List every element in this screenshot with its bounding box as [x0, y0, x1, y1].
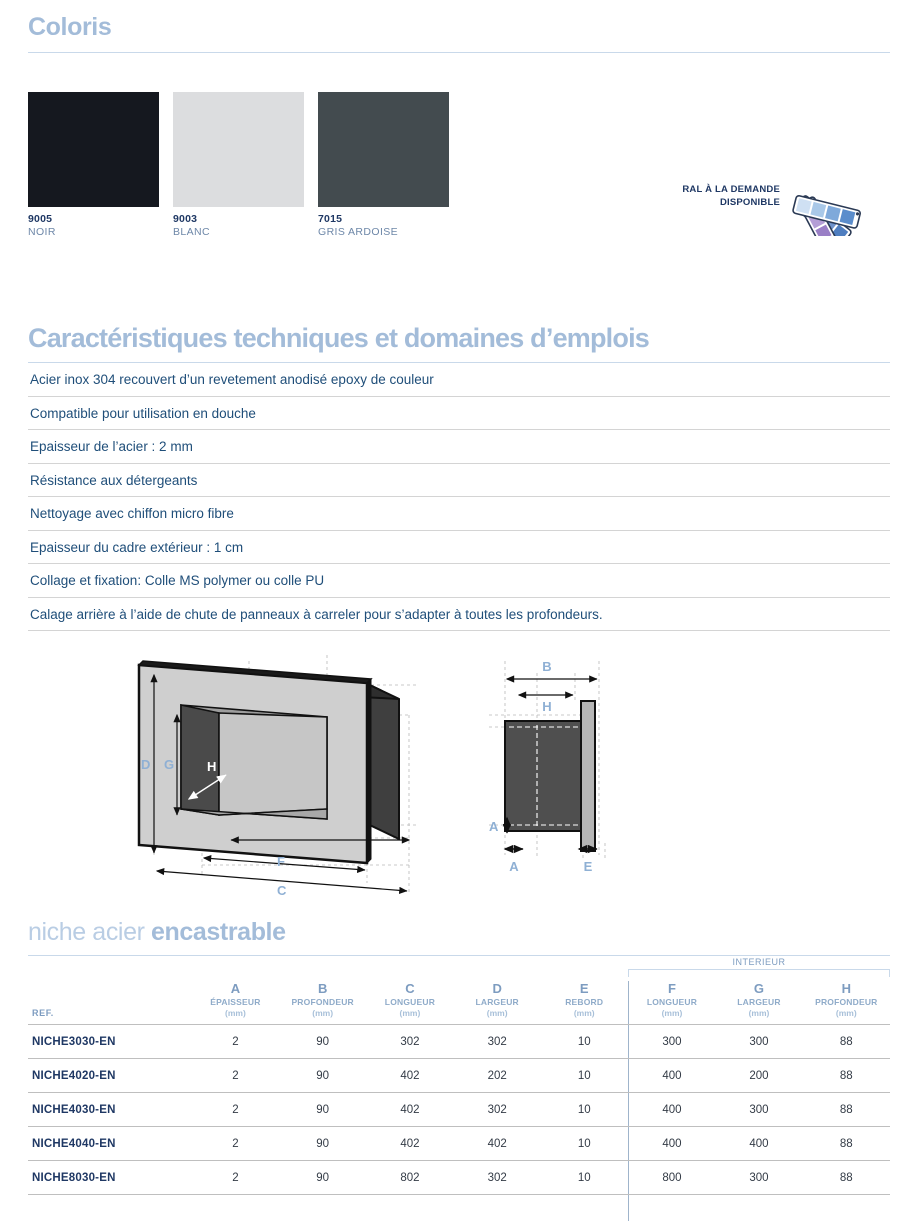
header-letter: G: [715, 981, 802, 997]
header-unit: (mm): [454, 1008, 541, 1019]
header-col-G: G LARGEUR (mm): [715, 981, 802, 1025]
product-dimension-table: INTERIEUR REF. A ÉPAISSEUR (mm) B PROFON…: [28, 957, 890, 1221]
perspective-view: D G H F C: [139, 655, 419, 898]
ral-on-demand-badge: RAL À LA DEMANDE DISPONIBLE: [682, 154, 874, 241]
header-letter: B: [279, 981, 366, 997]
header-name: REBORD: [541, 997, 628, 1008]
cell-ref: NICHE4040-EN: [28, 1127, 192, 1161]
cell-E: 10: [541, 1059, 628, 1093]
swatch-code: 9005: [28, 213, 166, 225]
cell-E: 10: [541, 1093, 628, 1127]
cell-ref: NICHE8030-EN: [28, 1161, 192, 1195]
header-col-E: E REBORD (mm): [541, 981, 628, 1025]
dim-label-E: E: [584, 859, 593, 874]
cell-B: 90: [279, 1161, 366, 1195]
table-row[interactable]: NICHE4030-EN 2 90 402 302 10 400 300 88: [28, 1093, 890, 1127]
dim-label-H-side: H: [542, 699, 551, 714]
ral-badge-line1: RAL À LA DEMANDE: [682, 184, 780, 197]
color-swatch-9005[interactable]: 9005 NOIR: [28, 92, 166, 238]
cell-C: 802: [366, 1161, 453, 1195]
product-table-section: niche acier encastrable INTERIEUR REF. A…: [28, 919, 890, 1221]
header-name: LARGEUR: [715, 997, 802, 1008]
color-fan-icon: [786, 154, 874, 241]
cell-G: 400: [715, 1127, 802, 1161]
cell-F: 300: [628, 1025, 715, 1059]
cell-C: 402: [366, 1059, 453, 1093]
swatch-code: 9003: [173, 213, 311, 225]
cell-G: 300: [715, 1025, 802, 1059]
column-header-row: REF. A ÉPAISSEUR (mm) B PROFONDEUR (mm) …: [28, 981, 890, 1025]
cell-A: 2: [192, 1059, 279, 1093]
spec-row: Epaisseur de l’acier : 2 mm: [28, 430, 890, 464]
header-unit: (mm): [192, 1008, 279, 1019]
header-unit: (mm): [629, 1008, 716, 1019]
swatch-color-box: [318, 92, 449, 207]
cell-E: 10: [541, 1127, 628, 1161]
swatch-name: BLANC: [173, 226, 311, 238]
coloris-heading: Coloris: [28, 14, 890, 42]
cell-H: 88: [803, 1093, 890, 1127]
cell-E: 10: [541, 1161, 628, 1195]
spec-row: Epaisseur du cadre extérieur : 1 cm: [28, 531, 890, 565]
header-name: LARGEUR: [454, 997, 541, 1008]
table-row[interactable]: NICHE4040-EN 2 90 402 402 10 400 400 88: [28, 1127, 890, 1161]
dim-label-H: H: [207, 759, 216, 774]
table-tail-row: [28, 1195, 890, 1221]
header-col-A: A ÉPAISSEUR (mm): [192, 981, 279, 1025]
cell-E: 10: [541, 1025, 628, 1059]
coloris-section: Coloris 9005 NOIR 9003 BLANC 7015 GRIS A…: [28, 0, 890, 238]
header-unit: (mm): [715, 1008, 802, 1019]
cell-ref: NICHE4030-EN: [28, 1093, 192, 1127]
ral-badge-line2: DISPONIBLE: [682, 197, 780, 210]
header-unit: (mm): [366, 1008, 453, 1019]
dim-label-F: F: [277, 854, 285, 869]
cell-H: 88: [803, 1025, 890, 1059]
table-title-light: niche acier: [28, 918, 151, 946]
cell-C: 402: [366, 1127, 453, 1161]
cell-F: 400: [628, 1059, 715, 1093]
table-row[interactable]: NICHE4020-EN 2 90 402 202 10 400 200 88: [28, 1059, 890, 1093]
spec-row: Résistance aux détergeants: [28, 464, 890, 498]
cell-H: 88: [803, 1127, 890, 1161]
header-unit: (mm): [541, 1008, 628, 1019]
cell-A: 2: [192, 1025, 279, 1059]
color-swatch-9003[interactable]: 9003 BLANC: [173, 92, 311, 238]
header-name: LONGUEUR: [366, 997, 453, 1008]
cell-D: 202: [454, 1059, 541, 1093]
header-col-F: F LONGUEUR (mm): [628, 981, 715, 1025]
datasheet-page: Coloris 9005 NOIR 9003 BLANC 7015 GRIS A…: [0, 0, 918, 1216]
spec-row: Compatible pour utilisation en douche: [28, 397, 890, 431]
spec-row: Acier inox 304 recouvert d’un revetement…: [28, 363, 890, 397]
spec-row: Calage arrière à l’aide de chute de pann…: [28, 598, 890, 632]
header-unit: (mm): [279, 1008, 366, 1019]
cell-G: 200: [715, 1059, 802, 1093]
header-col-B: B PROFONDEUR (mm): [279, 981, 366, 1025]
coloris-divider: [28, 52, 890, 53]
cell-D: 402: [454, 1127, 541, 1161]
dim-label-G: G: [164, 757, 174, 772]
cell-D: 302: [454, 1025, 541, 1059]
header-letter: A: [192, 981, 279, 997]
cell-D: 302: [454, 1093, 541, 1127]
table-title-bold: encastrable: [151, 918, 286, 946]
niche-dimension-diagram: D G H F C: [109, 643, 809, 909]
dim-label-D: D: [141, 757, 150, 772]
cell-D: 302: [454, 1161, 541, 1195]
cell-B: 90: [279, 1127, 366, 1161]
dim-label-A-vertical: A: [489, 819, 499, 834]
table-divider: [28, 955, 890, 956]
specs-section: Caractéristiques techniques et domaines …: [28, 324, 890, 632]
cell-F: 800: [628, 1161, 715, 1195]
header-letter: C: [366, 981, 453, 997]
swatch-color-box: [28, 92, 159, 207]
cell-G: 300: [715, 1093, 802, 1127]
table-row[interactable]: NICHE3030-EN 2 90 302 302 10 300 300 88: [28, 1025, 890, 1059]
header-letter: H: [803, 981, 890, 997]
header-name: ÉPAISSEUR: [192, 997, 279, 1008]
group-header-row: INTERIEUR: [28, 957, 890, 981]
cell-A: 2: [192, 1127, 279, 1161]
header-letter: D: [454, 981, 541, 997]
table-title: niche acier encastrable: [28, 919, 890, 947]
cell-H: 88: [803, 1059, 890, 1093]
cell-C: 402: [366, 1093, 453, 1127]
swatch-name: NOIR: [28, 226, 166, 238]
side-view: B H A A E: [489, 659, 605, 874]
cell-F: 400: [628, 1127, 715, 1161]
cell-A: 2: [192, 1093, 279, 1127]
swatch-color-box: [173, 92, 304, 207]
header-name: PROFONDEUR: [279, 997, 366, 1008]
cell-B: 90: [279, 1059, 366, 1093]
cell-A: 2: [192, 1161, 279, 1195]
cell-ref: NICHE4020-EN: [28, 1059, 192, 1093]
header-letter: E: [541, 981, 628, 997]
header-name: PROFONDEUR: [803, 997, 890, 1008]
group-label-interieur: INTERIEUR: [628, 957, 890, 981]
spec-row: Collage et fixation: Colle MS polymer ou…: [28, 564, 890, 598]
header-ref: REF.: [28, 981, 192, 1025]
color-swatch-7015[interactable]: 7015 GRIS ARDOISE: [318, 92, 456, 238]
swatch-name: GRIS ARDOISE: [318, 226, 456, 238]
header-col-D: D LARGEUR (mm): [454, 981, 541, 1025]
spec-row: Nettoyage avec chiffon micro fibre: [28, 497, 890, 531]
dim-label-C: C: [277, 883, 287, 898]
cell-C: 302: [366, 1025, 453, 1059]
cell-B: 90: [279, 1025, 366, 1059]
header-col-C: C LONGUEUR (mm): [366, 981, 453, 1025]
dim-label-A-bottom: A: [509, 859, 519, 874]
ral-badge-text: RAL À LA DEMANDE DISPONIBLE: [682, 184, 780, 210]
color-swatch-row: 9005 NOIR 9003 BLANC 7015 GRIS ARDOISE R…: [28, 92, 890, 238]
cell-G: 300: [715, 1161, 802, 1195]
specs-list: Acier inox 304 recouvert d’un revetement…: [28, 363, 890, 631]
header-col-H: H PROFONDEUR (mm): [803, 981, 890, 1025]
cell-F: 400: [628, 1093, 715, 1127]
specs-heading: Caractéristiques techniques et domaines …: [28, 324, 890, 354]
header-unit: (mm): [803, 1008, 890, 1019]
swatch-code: 7015: [318, 213, 456, 225]
cell-B: 90: [279, 1093, 366, 1127]
table-row[interactable]: NICHE8030-EN 2 90 802 302 10 800 300 88: [28, 1161, 890, 1195]
dim-label-B: B: [542, 659, 551, 674]
cell-ref: NICHE3030-EN: [28, 1025, 192, 1059]
header-letter: F: [629, 981, 716, 997]
header-name: LONGUEUR: [629, 997, 716, 1008]
technical-drawing: D G H F C: [28, 643, 890, 911]
cell-H: 88: [803, 1161, 890, 1195]
